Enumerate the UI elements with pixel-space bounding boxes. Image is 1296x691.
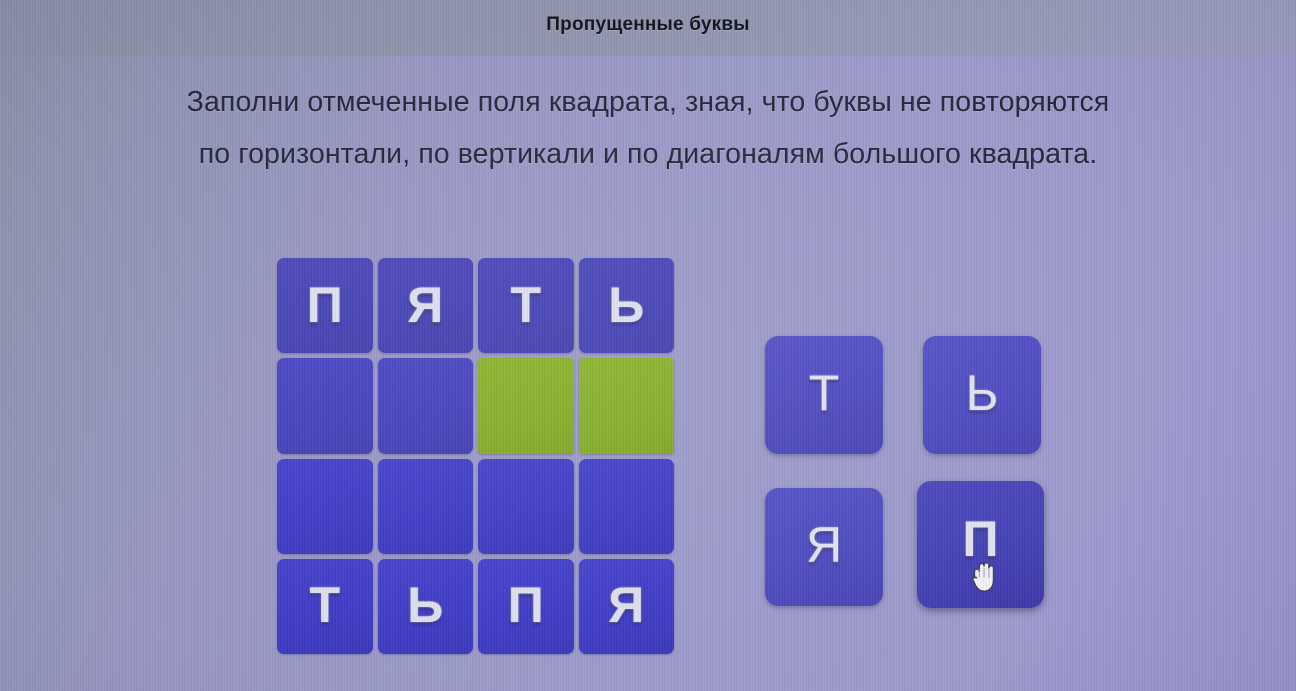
page-title: Пропущенные буквы bbox=[0, 14, 1296, 36]
bank-tile-t[interactable]: Т bbox=[765, 336, 883, 454]
bank-tile-letter: Т bbox=[809, 368, 840, 418]
bank-tile-letter: П bbox=[963, 514, 999, 564]
grid-cell[interactable] bbox=[579, 459, 675, 554]
grid-cell-letter: Ь bbox=[608, 280, 644, 330]
instruction-line-1: Заполни отмеченные поля квадрата, зная, … bbox=[0, 76, 1296, 128]
grid-cell-target[interactable] bbox=[478, 358, 574, 453]
app-screen: Пропущенные буквы Заполни отмеченные пол… bbox=[0, 0, 1296, 691]
grid-cell[interactable]: Т bbox=[277, 559, 373, 654]
grid-cell[interactable]: П bbox=[478, 559, 574, 654]
bank-tile-letter: Я bbox=[806, 520, 842, 570]
letter-bank: Т Ь Я П bbox=[765, 336, 1041, 608]
grid-cell[interactable]: Т bbox=[478, 258, 574, 353]
grid-cell[interactable]: Я bbox=[579, 559, 675, 654]
grid-cell[interactable] bbox=[277, 358, 373, 453]
bank-tile-pe[interactable]: П bbox=[917, 481, 1044, 608]
puzzle-grid: П Я Т Ь bbox=[277, 258, 674, 654]
instruction-line-2: по горизонтали, по вертикали и по диагон… bbox=[0, 128, 1296, 180]
bank-tile-letter: Ь bbox=[966, 368, 999, 418]
grid-cell-letter: Ь bbox=[407, 580, 443, 630]
grid-cell-letter: Т bbox=[309, 580, 340, 630]
grid-cell[interactable] bbox=[478, 459, 574, 554]
grid-cell[interactable]: П bbox=[277, 258, 373, 353]
grid-cell[interactable]: Ь bbox=[579, 258, 675, 353]
grid-cell-letter: Я bbox=[407, 280, 443, 330]
grid-cell[interactable]: Я bbox=[378, 258, 474, 353]
bank-tile-ya[interactable]: Я bbox=[765, 488, 883, 606]
grid-cell-letter: Я bbox=[608, 580, 644, 630]
grid-cell[interactable] bbox=[277, 459, 373, 554]
grid-cell-letter: Т bbox=[510, 280, 541, 330]
grid-cell[interactable] bbox=[378, 358, 474, 453]
grid-cell-letter: П bbox=[508, 580, 544, 630]
instruction-text: Заполни отмеченные поля квадрата, зная, … bbox=[0, 76, 1296, 180]
bank-tile-soft-sign[interactable]: Ь bbox=[923, 336, 1041, 454]
grid-cell[interactable]: Ь bbox=[378, 559, 474, 654]
grid-cell-letter: П bbox=[307, 280, 343, 330]
grid-cell[interactable] bbox=[378, 459, 474, 554]
grid-cell-target[interactable] bbox=[579, 358, 675, 453]
